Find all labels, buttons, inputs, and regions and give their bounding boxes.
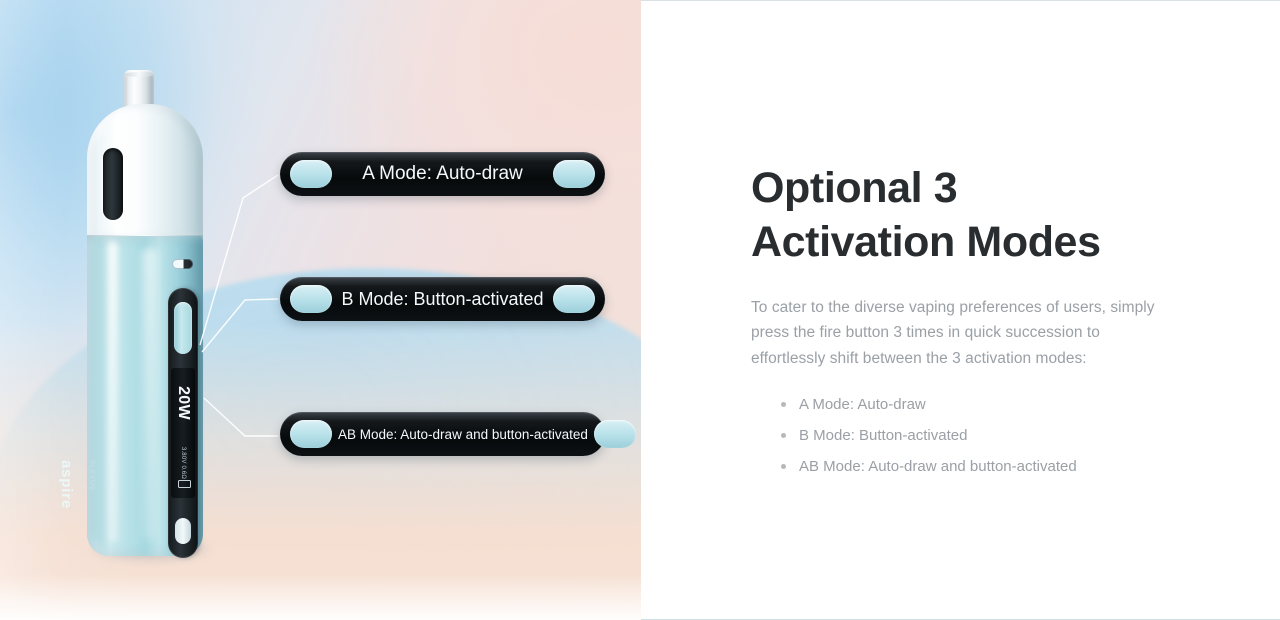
device-airflow-slider xyxy=(172,259,193,269)
callout-label-ab-mode: AB Mode: Auto-draw and button-activated xyxy=(332,427,594,442)
product-image-panel: aspire FLEXUS 20W 3.80V 0.6Ω A Mode: A xyxy=(0,0,641,620)
callout-label-b-mode: B Mode: Button-activated xyxy=(332,289,553,310)
device-voltage-reading: 3.80V 0.6Ω xyxy=(180,447,186,479)
list-item: A Mode: Auto-draw xyxy=(781,393,1181,416)
description-panel: Optional 3 Activation Modes To cater to … xyxy=(641,0,1280,620)
device-brand-text: aspire xyxy=(58,460,75,509)
description-content: Optional 3 Activation Modes To cater to … xyxy=(751,161,1181,487)
device-body-highlight-secondary xyxy=(142,248,157,540)
battery-icon xyxy=(178,480,191,488)
device-pod-window xyxy=(103,148,123,220)
callout-pill-b-mode[interactable]: B Mode: Button-activated xyxy=(280,277,605,321)
background-bottom-fade xyxy=(0,574,641,620)
activation-modes-list: A Mode: Auto-draw B Mode: Button-activat… xyxy=(751,393,1181,479)
device-brand-subtext: FLEXUS xyxy=(88,460,95,491)
pill-cap-right-icon xyxy=(594,420,636,448)
heading-line-2: Activation Modes xyxy=(751,218,1101,266)
pill-cap-right-icon xyxy=(553,285,595,313)
device-body-highlight xyxy=(108,242,118,542)
device-display-screen: 20W 3.80V 0.6Ω xyxy=(171,368,195,498)
pill-cap-left-icon xyxy=(290,285,332,313)
device-wattage-reading: 20W xyxy=(174,386,192,420)
pill-cap-right-icon xyxy=(553,160,595,188)
callout-pill-ab-mode[interactable]: AB Mode: Auto-draw and button-activated xyxy=(280,412,605,456)
device-mouthpiece-ring xyxy=(124,72,154,77)
device-control-strip: 20W 3.80V 0.6Ω xyxy=(168,288,198,558)
device-bottom-button xyxy=(175,518,191,544)
description-paragraph: To cater to the diverse vaping preferenc… xyxy=(751,295,1171,370)
device-fire-button xyxy=(174,302,192,354)
pill-cap-left-icon xyxy=(290,420,332,448)
callout-pill-a-mode[interactable]: A Mode: Auto-draw xyxy=(280,152,605,196)
vape-device-image: aspire FLEXUS 20W 3.80V 0.6Ω xyxy=(84,70,210,556)
list-item: B Mode: Button-activated xyxy=(781,424,1181,447)
page-title: Optional 3 Activation Modes xyxy=(751,161,1181,269)
list-item: AB Mode: Auto-draw and button-activated xyxy=(781,455,1181,478)
callout-label-a-mode: A Mode: Auto-draw xyxy=(332,163,553,185)
heading-line-1: Optional 3 xyxy=(751,164,957,212)
page-root: aspire FLEXUS 20W 3.80V 0.6Ω A Mode: A xyxy=(0,0,1280,620)
pill-cap-left-icon xyxy=(290,160,332,188)
